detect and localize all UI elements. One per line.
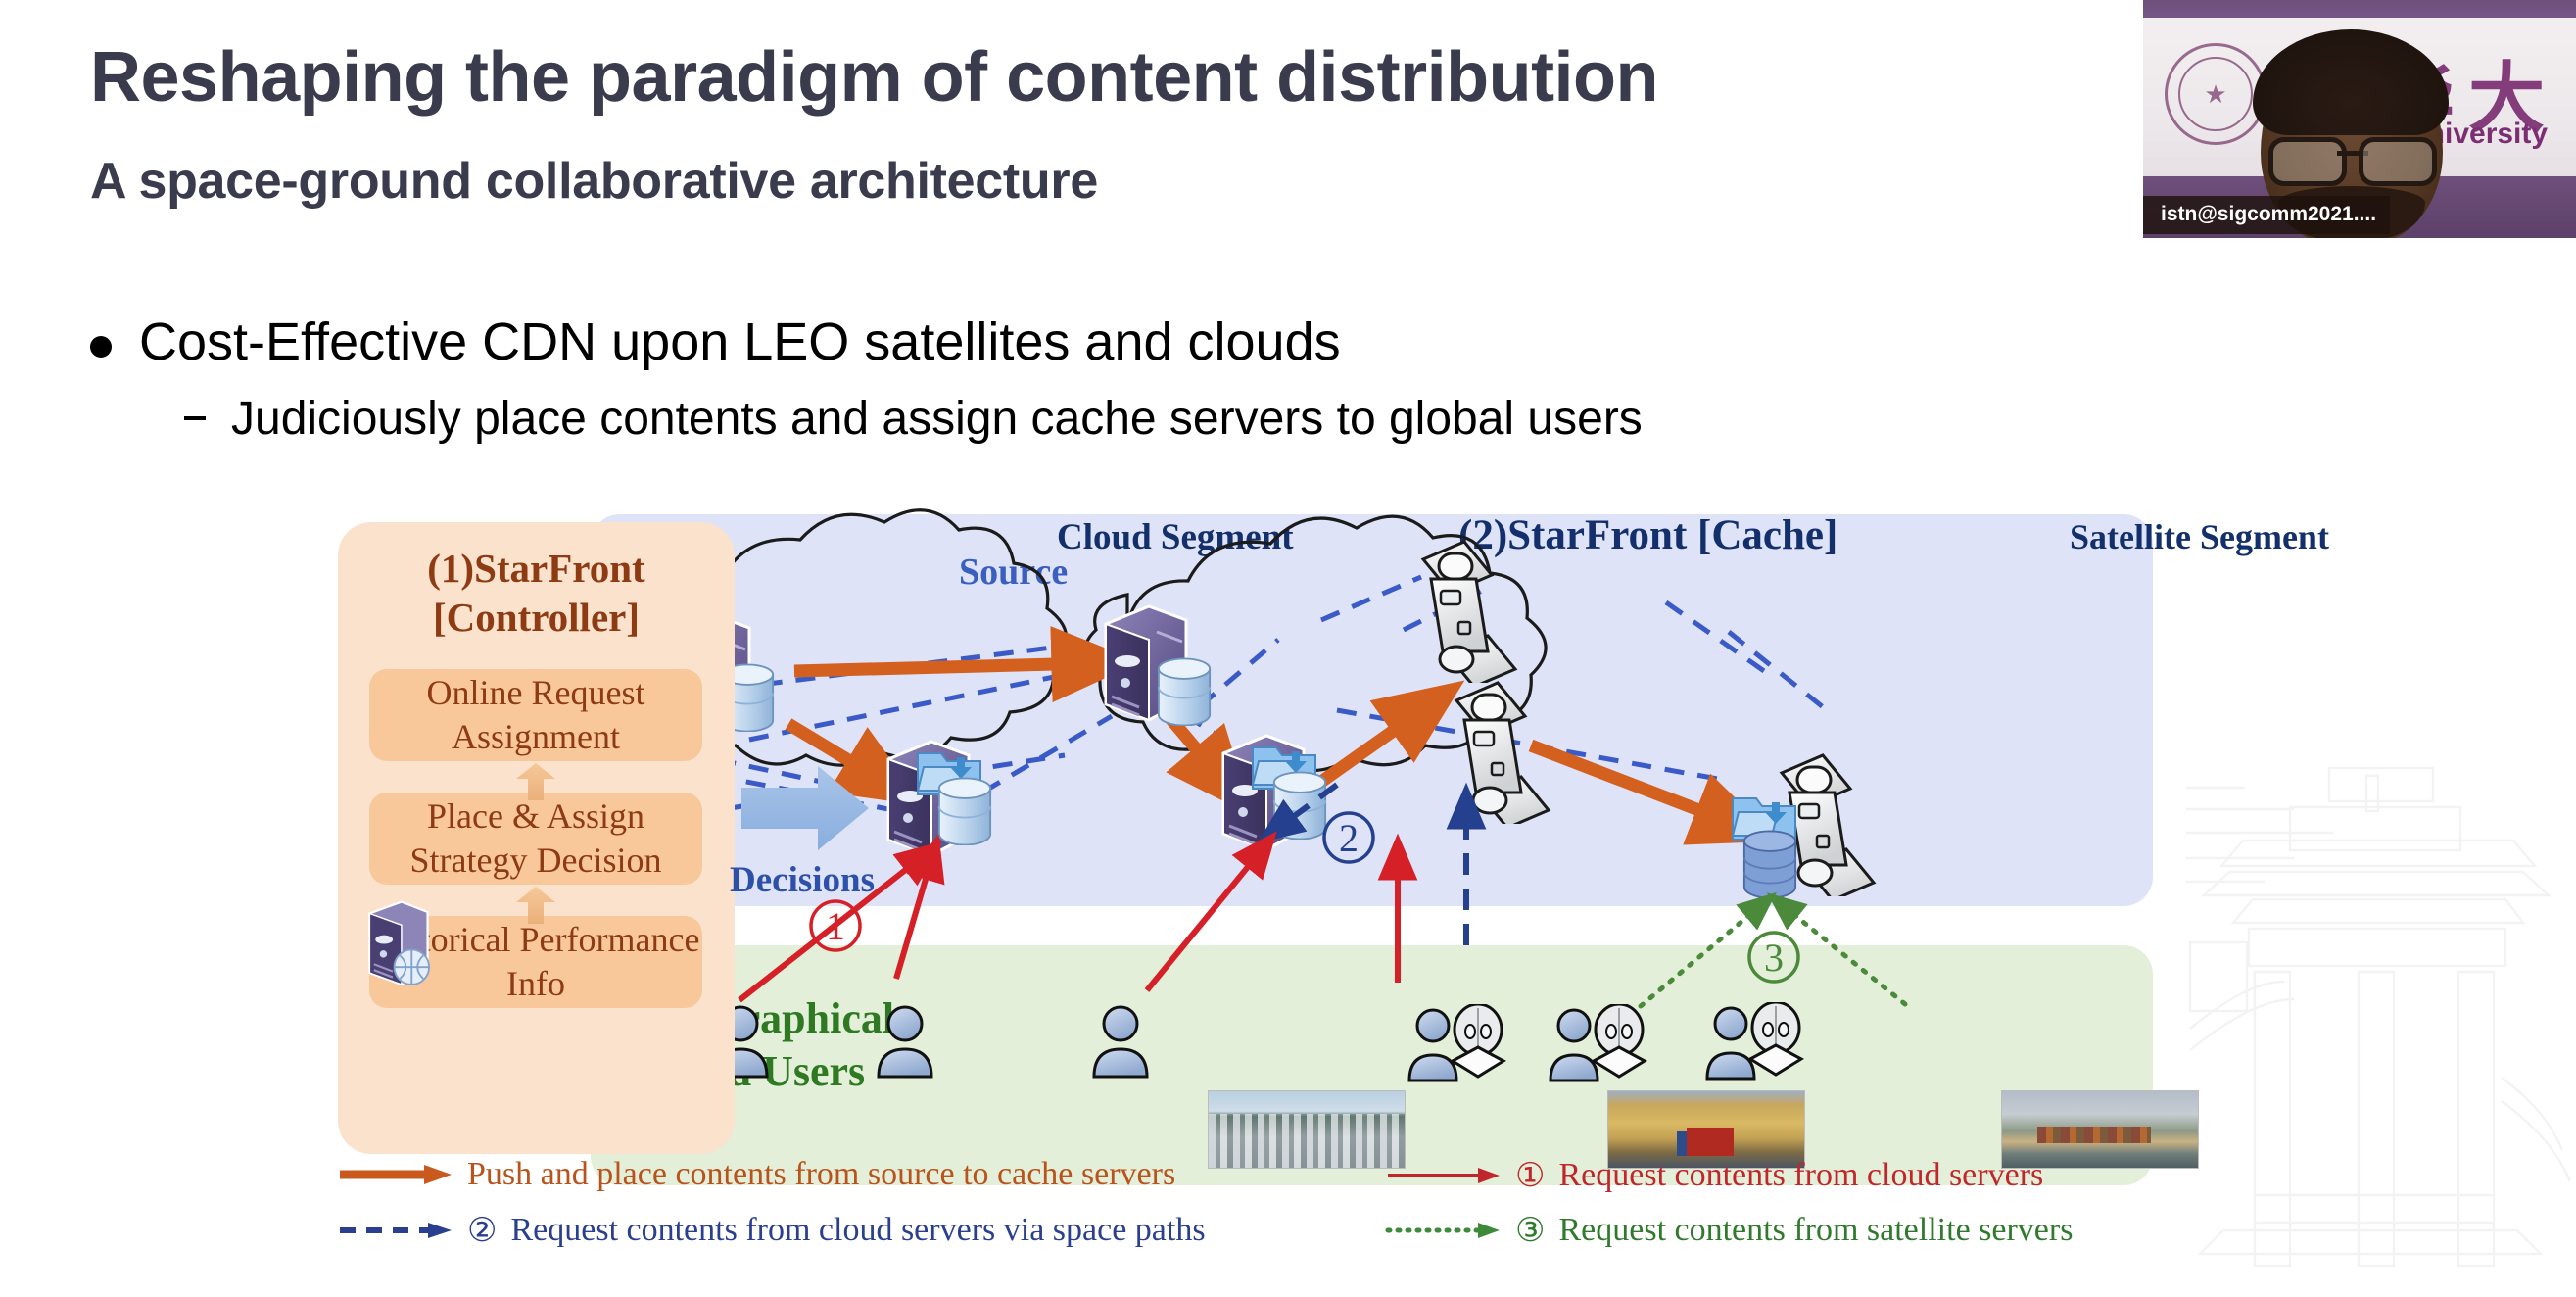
legend-item-request-satellite: ③ Request contents from satellite server… [1386, 1211, 2073, 1250]
legend-swatch-red-arrow [1386, 1165, 1502, 1186]
flow-marker-2: 2 [1324, 813, 1373, 862]
page-title: Reshaping the paradigm of content distri… [90, 37, 1658, 118]
legend-label-request-cloud: Request contents from cloud servers [1558, 1157, 2043, 1194]
webcam-participant-label: istn@sigcomm2021.... [2143, 196, 2390, 234]
cloud-server-2 [1106, 606, 1210, 726]
legend-label-push-place: Push and place contents from source to c… [467, 1156, 1175, 1193]
flow-marker-3: 3 [1749, 933, 1798, 982]
controller-box-place-assign-strategy[interactable]: Place & Assign Strategy Decision [369, 793, 702, 885]
end-user-2 [879, 1007, 931, 1077]
seal-star-icon: ★ [2204, 81, 2226, 107]
legend-swatch-blue-dashed-arrow [338, 1220, 453, 1241]
legend-label-request-space: Request contents from cloud servers via … [510, 1212, 1205, 1249]
webcam-video-overlay[interactable]: ★ 清华大学 University istn@sigcomm2021.... [2143, 0, 2576, 238]
controller-up-arrow-1 [514, 763, 557, 800]
satellite-top [1423, 542, 1515, 687]
flow-marker-1: 1 [811, 901, 860, 950]
bullet-level1-label: Cost-Effective CDN upon LEO satellites a… [139, 312, 1341, 372]
legend-item-push-place: Push and place contents from source to c… [338, 1156, 1175, 1193]
cloud-server-4 [1223, 736, 1325, 849]
legend-swatch-orange-arrow [338, 1164, 453, 1185]
speaker-glasses-icon [2268, 137, 2437, 178]
end-user-5 [1550, 1004, 1645, 1081]
legend-marker-2: ② [467, 1211, 497, 1250]
svg-text:3: 3 [1764, 936, 1784, 980]
decisions-label: Decisions [730, 859, 875, 901]
page-subtitle: A space-ground collaborative architectur… [90, 152, 1098, 211]
legend-item-request-cloud: ① Request contents from cloud servers [1386, 1156, 2043, 1195]
bullet-dot-icon [90, 336, 112, 358]
starfront-controller-panel: (1)StarFront [Controller] Online Request… [338, 522, 735, 1154]
satellite-middle [1456, 683, 1549, 828]
legend-swatch-green-dotted-arrow [1386, 1220, 1502, 1241]
end-user-4 [1409, 1004, 1503, 1081]
cloud-server-3 [888, 742, 990, 855]
legend-marker-1: ① [1515, 1156, 1545, 1195]
controller-title-line2: [Controller] [338, 593, 735, 642]
end-user-6 [1707, 1002, 1801, 1079]
glasses-lens-right [2359, 137, 2437, 186]
bullet-level2: Judiciously place contents and assign ca… [184, 392, 1643, 446]
space-downlink-arrows [1278, 785, 1466, 945]
controller-title-line1: (1)StarFront [338, 544, 735, 593]
bullet-dash-icon [184, 416, 206, 420]
decisions-arrow-icon [741, 764, 869, 852]
bullet-level1: Cost-Effective CDN upon LEO satellites a… [90, 312, 1341, 372]
svg-text:1: 1 [826, 904, 845, 948]
satellite-right [1733, 755, 1874, 900]
legend-marker-3: ③ [1515, 1211, 1545, 1250]
diagram-legend: Push and place contents from source to c… [338, 1156, 2297, 1273]
historical-server-icon [359, 899, 432, 991]
svg-text:2: 2 [1339, 816, 1359, 860]
glasses-lens-left [2268, 137, 2347, 186]
controller-box-online-request-assignment[interactable]: Online Request Assignment [369, 669, 702, 761]
university-seal-icon: ★ [2165, 43, 2266, 145]
controller-title: (1)StarFront [Controller] [338, 544, 735, 642]
legend-label-request-satellite: Request contents from satellite servers [1558, 1212, 2073, 1249]
legend-item-request-space: ② Request contents from cloud servers vi… [338, 1211, 1206, 1250]
end-user-3 [1094, 1007, 1147, 1077]
bullet-level2-label: Judiciously place contents and assign ca… [231, 392, 1643, 446]
controller-up-arrow-2 [514, 887, 557, 924]
